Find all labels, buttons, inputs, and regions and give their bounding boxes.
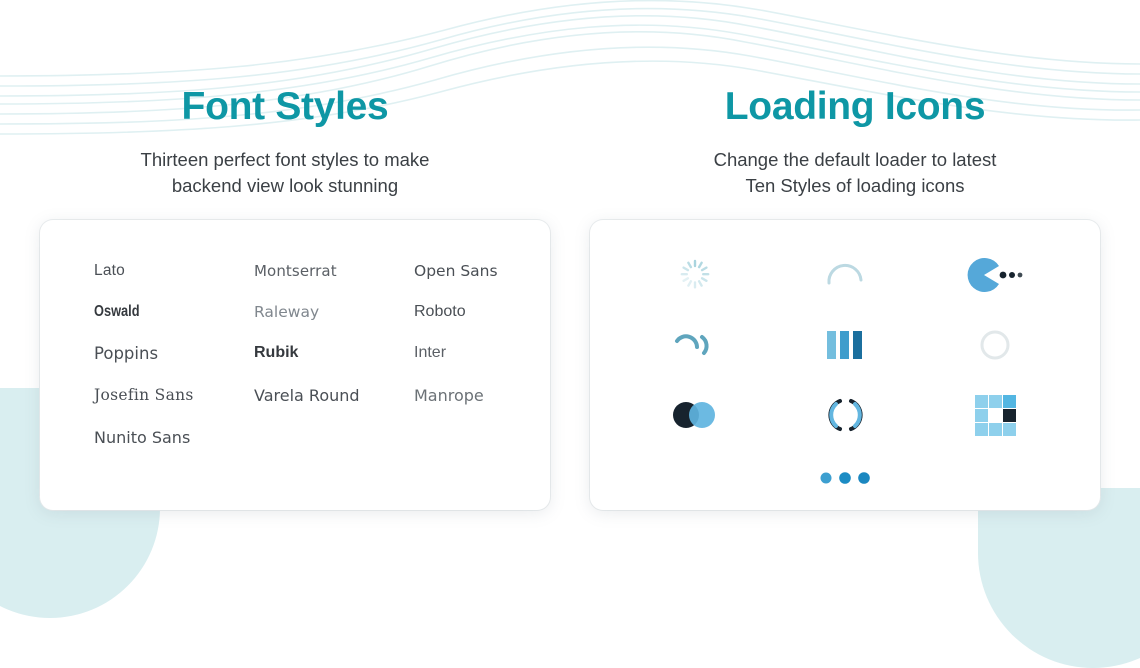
font-styles-title: Font Styles bbox=[0, 86, 570, 129]
loader-item-facing-arcs[interactable] bbox=[815, 385, 875, 445]
two-overlapping-circles-icon bbox=[669, 399, 721, 431]
loader-last-row bbox=[590, 448, 1100, 508]
font-item-inter[interactable]: Inter bbox=[414, 344, 524, 363]
loader-item-square-grid[interactable] bbox=[965, 385, 1025, 445]
font-item-roboto[interactable]: Roboto bbox=[414, 303, 524, 321]
font-styles-subtitle-line1: Thirteen perfect font styles to make bbox=[141, 149, 430, 170]
three-bars-icon bbox=[824, 328, 866, 362]
loader-item-pacman-dots[interactable] bbox=[965, 245, 1025, 305]
loading-icons-subtitle: Change the default loader to latest Ten … bbox=[570, 147, 1140, 201]
font-item-montserrat[interactable]: Montserrat bbox=[254, 262, 414, 280]
spinner-tickmarks-icon bbox=[677, 257, 713, 293]
font-item-raleway[interactable]: Raleway bbox=[254, 303, 414, 321]
dual-arc-icon bbox=[671, 327, 719, 363]
loader-item-three-dots[interactable] bbox=[815, 448, 875, 508]
loader-item-spinner-tickmarks[interactable] bbox=[665, 245, 725, 305]
font-item-nunito-sans[interactable]: Nunito Sans bbox=[94, 428, 254, 447]
panel-font-styles: Font Styles Thirteen perfect font styles… bbox=[0, 0, 570, 578]
loader-item-two-overlapping-circles[interactable] bbox=[665, 385, 725, 445]
loading-icons-title: Loading Icons bbox=[570, 86, 1140, 129]
loader-item-three-bars[interactable] bbox=[815, 315, 875, 375]
loading-icons-subtitle-line1: Change the default loader to latest bbox=[714, 149, 997, 170]
loader-item-dual-arc[interactable] bbox=[665, 315, 725, 375]
font-styles-subtitle: Thirteen perfect font styles to make bac… bbox=[0, 147, 570, 201]
font-styles-subtitle-line2: backend view look stunning bbox=[172, 175, 398, 196]
font-item-poppins[interactable]: Poppins bbox=[94, 344, 254, 363]
panels-container: Font Styles Thirteen perfect font styles… bbox=[0, 0, 1140, 578]
circle-ring-icon bbox=[978, 328, 1012, 362]
loader-item-arc-top[interactable] bbox=[815, 245, 875, 305]
font-item-manrope[interactable]: Manrope bbox=[414, 386, 524, 405]
loading-icons-subtitle-line2: Ten Styles of loading icons bbox=[745, 175, 964, 196]
font-item-rubik[interactable]: Rubik bbox=[254, 344, 414, 363]
font-list: Lato Montserrat Open Sans Oswald Raleway… bbox=[94, 262, 524, 447]
font-item-lato[interactable]: Lato bbox=[94, 262, 254, 280]
loader-list bbox=[620, 240, 1070, 450]
panel-loading-icons: Loading Icons Change the default loader … bbox=[570, 0, 1140, 578]
font-item-josefin-sans[interactable]: Josefin Sans bbox=[94, 386, 254, 405]
three-dots-icon bbox=[819, 470, 871, 486]
loading-icons-card bbox=[590, 220, 1100, 510]
font-item-open-sans[interactable]: Open Sans bbox=[414, 262, 524, 280]
pacman-dots-icon bbox=[967, 258, 1023, 292]
facing-arcs-icon bbox=[823, 395, 867, 435]
font-styles-card: Lato Montserrat Open Sans Oswald Raleway… bbox=[40, 220, 550, 510]
arc-top-icon bbox=[823, 253, 867, 297]
square-grid-icon bbox=[974, 394, 1016, 436]
loader-item-circle-ring[interactable] bbox=[965, 315, 1025, 375]
font-item-varela-round[interactable]: Varela Round bbox=[254, 386, 414, 405]
font-item-oswald[interactable]: Oswald bbox=[94, 303, 222, 321]
